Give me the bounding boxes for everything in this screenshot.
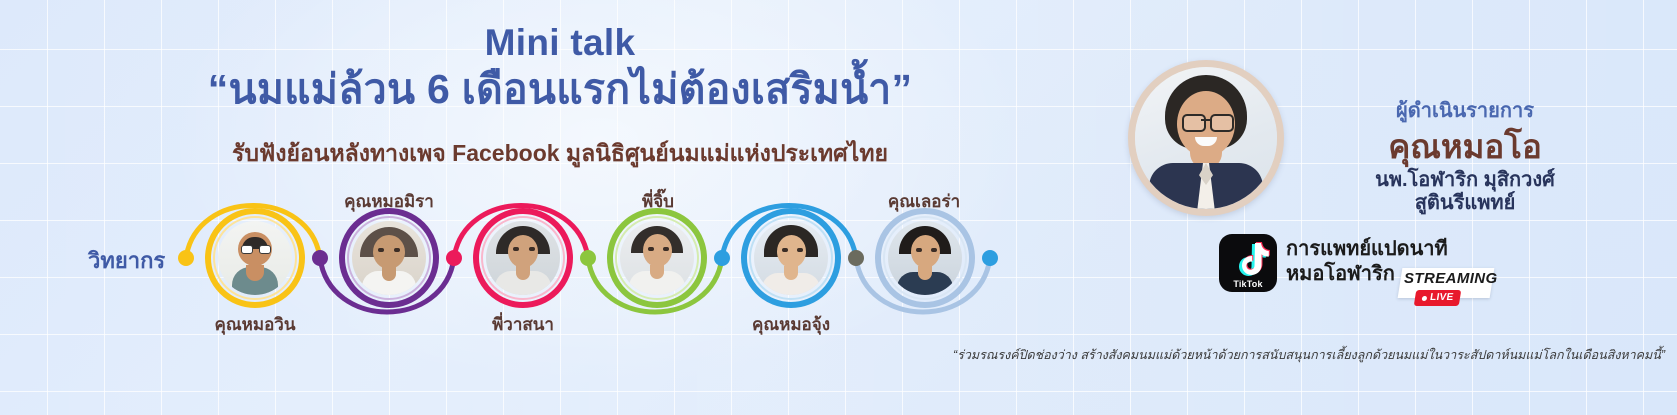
speaker-avatar-5: [754, 221, 828, 295]
host-avatar-frame: [1128, 60, 1284, 216]
tiktok-icon[interactable]: TikTok: [1219, 234, 1277, 292]
campaign-footnote: “ร่วมรณรงค์ปิดช่องว่าง สร้างสังคมนมแม่ด้…: [835, 345, 1665, 365]
headline-subtitle: รับฟังย้อนหลังทางเพจ Facebook มูลนิธิศูน…: [0, 136, 1120, 172]
speaker-name-2: คุณหมอมิรา: [344, 188, 434, 215]
infographic-banner: Mini talk “นมแม่ล้วน 6 เดือนแรกไม่ต้องเส…: [0, 0, 1677, 415]
host-avatar: [1135, 67, 1277, 209]
streaming-label: STREAMING: [1404, 270, 1496, 287]
tiktok-wordmark: TikTok: [1219, 279, 1277, 289]
speaker-avatar-2: [352, 221, 426, 295]
live-badge: LIVE: [1414, 290, 1462, 306]
speaker-name-4: พี่จิ๊บ: [642, 188, 674, 215]
speaker-avatar-1: [218, 221, 292, 295]
tiktok-channel-line2: หมอโอฬาริก: [1286, 257, 1395, 289]
speaker-avatar-4: [620, 221, 694, 295]
headline-block: Mini talk “นมแม่ล้วน 6 เดือนแรกไม่ต้องเส…: [0, 22, 1120, 114]
speaker-name-3: พี่วาสนา: [492, 311, 554, 338]
speaker-name-1: คุณหมอวิน: [215, 311, 296, 338]
live-dot-icon: [1422, 296, 1428, 301]
host-specialty: สูตินรีแพทย์: [1300, 186, 1630, 218]
speaker-name-6: คุณเลอร่า: [888, 188, 960, 215]
speaker-avatar-6: [888, 221, 962, 295]
live-label: LIVE: [1429, 290, 1455, 306]
speaker-name-5: คุณหมอจุ้ง: [752, 311, 830, 338]
headline-line2: “นมแม่ล้วน 6 เดือนแรกไม่ต้องเสริมน้ำ”: [0, 64, 1120, 114]
speaker-avatar-3: [486, 221, 560, 295]
headline-line1: Mini talk: [0, 22, 1120, 64]
